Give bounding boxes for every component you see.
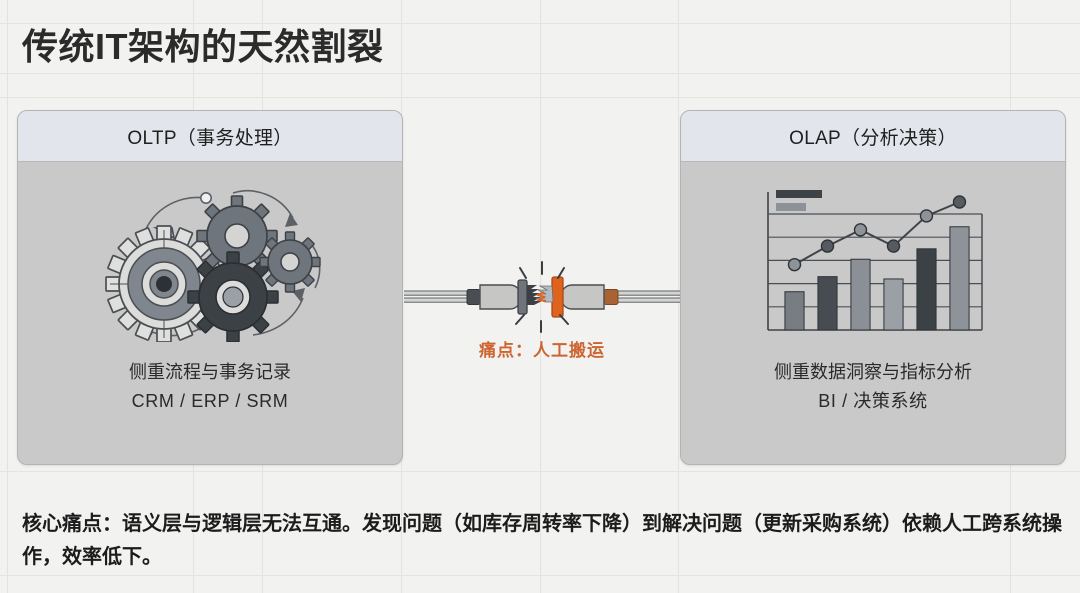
broken-cable-icon bbox=[404, 258, 680, 336]
panel-olap-caption-line1: 侧重数据洞察与指标分析 bbox=[774, 358, 972, 387]
gears-icon bbox=[85, 180, 335, 342]
panel-oltp-caption-line1: 侧重流程与事务记录 bbox=[129, 358, 291, 387]
panel-olap-caption-line2: BI / 决策系统 bbox=[774, 387, 972, 416]
panel-oltp: OLTP（事务处理） bbox=[17, 110, 403, 465]
panel-oltp-caption-line2: CRM / ERP / SRM bbox=[129, 387, 291, 416]
bar-chart-icon bbox=[756, 180, 990, 342]
pain-point-label: 痛点：人工搬运 bbox=[404, 336, 680, 361]
connector-group: 痛点：人工搬运 bbox=[404, 258, 680, 373]
panel-oltp-header: OLTP（事务处理） bbox=[18, 111, 402, 162]
panel-oltp-body: 侧重流程与事务记录 CRM / ERP / SRM bbox=[18, 162, 402, 465]
panel-olap-body: 侧重数据洞察与指标分析 BI / 决策系统 bbox=[681, 162, 1065, 465]
panel-oltp-caption: 侧重流程与事务记录 CRM / ERP / SRM bbox=[129, 358, 291, 416]
panel-olap-caption: 侧重数据洞察与指标分析 BI / 决策系统 bbox=[774, 358, 972, 416]
panel-olap-header: OLAP（分析决策） bbox=[681, 111, 1065, 162]
slide-canvas: 传统IT架构的天然割裂 OLTP（事务处理） bbox=[0, 0, 1080, 593]
page-title: 传统IT架构的天然割裂 bbox=[22, 22, 384, 72]
bottom-note: 核心痛点：语义层与逻辑层无法互通。发现问题（如库存周转率下降）到解决问题（更新采… bbox=[22, 508, 1062, 574]
panel-olap: OLAP（分析决策） 侧重数据洞察与指标分析 BI / 决策系统 bbox=[680, 110, 1066, 465]
